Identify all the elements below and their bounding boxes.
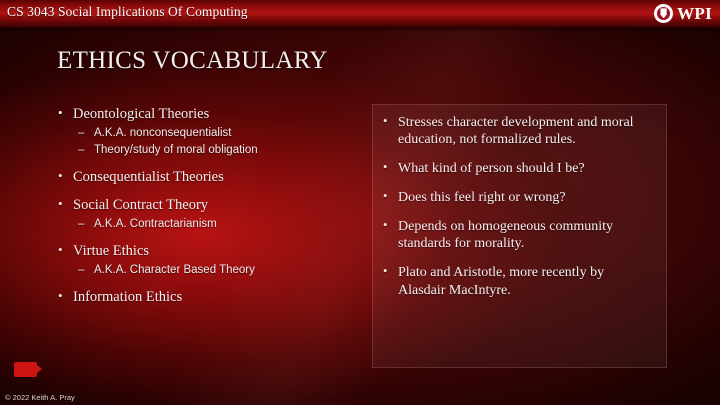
- dash-bullet-icon: –: [78, 263, 84, 278]
- list-item-label: A.K.A. nonconsequentialist: [94, 127, 231, 139]
- list-item-label: Plato and Aristotle, more recently by Al…: [398, 265, 604, 297]
- bullet-dot-icon: •: [58, 196, 63, 212]
- bullet-dot-icon: •: [383, 264, 387, 279]
- list-item: – A.K.A. nonconsequentialist: [56, 126, 356, 141]
- page-title: ETHICS VOCABULARY: [57, 47, 328, 75]
- list-item-label: Consequentialist Theories: [73, 169, 224, 185]
- course-title: CS 3043 Social Implications Of Computing: [7, 4, 248, 20]
- bullet-dot-icon: •: [383, 160, 387, 175]
- dash-bullet-icon: –: [78, 126, 84, 141]
- list-item-label: A.K.A. Contractarianism: [94, 218, 217, 230]
- left-bullet-list: • Deontological Theories – A.K.A. noncon…: [56, 105, 356, 309]
- list-item-label: Virtue Ethics: [73, 243, 149, 259]
- list-item-label: Information Ethics: [73, 289, 182, 305]
- slide-header-bar: CS 3043 Social Implications Of Computing…: [0, 0, 720, 28]
- video-camera-icon[interactable]: [14, 362, 37, 377]
- list-item-label: Stresses character development and moral…: [398, 115, 634, 147]
- list-item: – A.K.A. Character Based Theory: [56, 263, 356, 278]
- slide-canvas: CS 3043 Social Implications Of Computing…: [0, 0, 720, 405]
- bullet-dot-icon: •: [383, 189, 387, 204]
- list-item: • What kind of person should I be?: [381, 160, 654, 177]
- wpi-seal-icon: [654, 4, 673, 23]
- list-item-label: Social Contract Theory: [73, 197, 208, 213]
- list-item: – Theory/study of moral obligation: [56, 143, 356, 158]
- copyright-note: © 2022 Keith A. Pray: [5, 393, 75, 402]
- right-bullet-panel: • Stresses character development and mor…: [372, 104, 667, 368]
- list-item-label: A.K.A. Character Based Theory: [94, 264, 255, 276]
- list-item-label: What kind of person should I be?: [398, 161, 585, 176]
- list-item-label: Depends on homogeneous community standar…: [398, 219, 613, 251]
- dash-bullet-icon: –: [78, 217, 84, 232]
- list-item-label: Deontological Theories: [73, 106, 209, 122]
- bullet-dot-icon: •: [383, 218, 387, 233]
- list-item: – A.K.A. Contractarianism: [56, 217, 356, 232]
- list-item: • Depends on homogeneous community stand…: [381, 218, 654, 252]
- list-item: • Social Contract Theory: [56, 196, 356, 214]
- list-item: • Virtue Ethics: [56, 242, 356, 260]
- list-item: • Does this feel right or wrong?: [381, 189, 654, 206]
- wpi-wordmark: WPI: [677, 2, 712, 25]
- list-item: • Information Ethics: [56, 288, 356, 306]
- list-item-label: Theory/study of moral obligation: [94, 144, 258, 156]
- list-item: • Deontological Theories: [56, 105, 356, 123]
- bullet-dot-icon: •: [58, 242, 63, 258]
- list-item: • Consequentialist Theories: [56, 168, 356, 186]
- bullet-dot-icon: •: [58, 105, 63, 121]
- list-item: • Stresses character development and mor…: [381, 114, 654, 148]
- bullet-dot-icon: •: [58, 288, 63, 304]
- bullet-dot-icon: •: [58, 168, 63, 184]
- dash-bullet-icon: –: [78, 143, 84, 158]
- list-item-label: Does this feel right or wrong?: [398, 190, 566, 205]
- list-item: • Plato and Aristotle, more recently by …: [381, 264, 654, 298]
- wpi-logo: WPI: [654, 2, 712, 25]
- bullet-dot-icon: •: [383, 114, 387, 129]
